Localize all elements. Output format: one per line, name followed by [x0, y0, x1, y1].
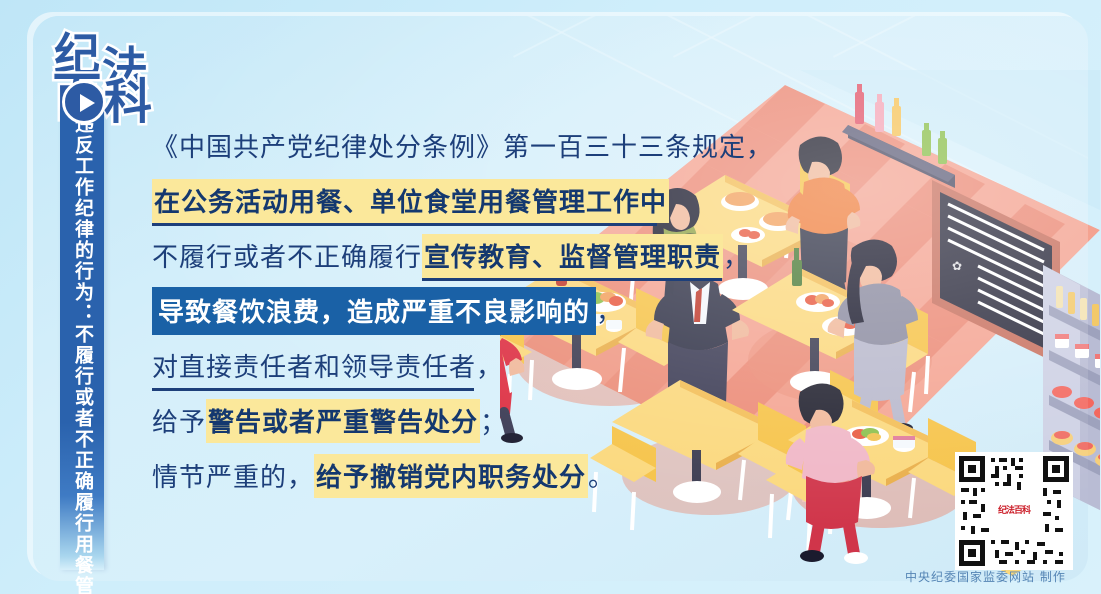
- text-segment: 对直接责任者和领导责任者，: [152, 347, 503, 384]
- vertical-title-text: 违反工作纪律的行为：不履行或者不正确履行用餐管理职责: [72, 114, 92, 594]
- highlight-blue-segment: 导致餐饮浪费，造成严重不良影响的: [152, 287, 596, 335]
- underline-rule: [152, 388, 474, 391]
- text-segment: 不履行或者不正确履行: [152, 237, 422, 274]
- credit-text: 中央纪委国家监委网站 制作: [905, 568, 1066, 585]
- text-line-4: 导致餐饮浪费，造成严重不良影响的 ，: [152, 283, 792, 338]
- text-segment: ，: [723, 237, 750, 274]
- highlight-yellow-segment: 在公务活动用餐、单位食堂用餐管理工作中: [152, 179, 669, 223]
- text-segment: 。: [588, 457, 615, 494]
- play-triangle-icon: [62, 80, 106, 124]
- text-line-6: 给予 警告或者严重警告处分 ；: [152, 393, 792, 448]
- highlight-yellow-segment: 宣传教育、监督管理职责: [422, 234, 723, 278]
- brand-logo[interactable]: 纪 法 百 科: [52, 32, 164, 128]
- text-segment: ；: [480, 402, 507, 439]
- underline-rule: [422, 278, 722, 281]
- vertical-title-banner: 违反工作纪律的行为：不履行或者不正确履行用餐管理职责: [60, 108, 104, 570]
- text-segment: ，: [596, 292, 623, 329]
- text-line-1: 《中国共产党纪律处分条例》第一百三十三条规定，: [152, 118, 792, 173]
- text-segment: 情节严重的，: [152, 457, 314, 494]
- regulation-text-block: 《中国共产党纪律处分条例》第一百三十三条规定， 在公务活动用餐、单位食堂用餐管理…: [152, 118, 792, 503]
- qr-code[interactable]: 纪法百科: [955, 452, 1073, 570]
- qr-finder-bottom-left: [959, 540, 985, 566]
- underline-rule: [152, 223, 657, 226]
- text-line-2: 在公务活动用餐、单位食堂用餐管理工作中: [152, 173, 792, 228]
- qr-code-matrix: 纪法百科: [959, 456, 1069, 566]
- text-line-7: 情节严重的， 给予撤销党内职务处分 。: [152, 448, 792, 503]
- text-segment: 《中国共产党纪律处分条例》第一百三十三条规定，: [152, 127, 773, 164]
- logo-char-ke: 科: [104, 78, 152, 126]
- poster-root: ✿: [0, 0, 1101, 594]
- qr-center-logo: 纪法百科: [995, 492, 1033, 530]
- text-line-5: 对直接责任者和领导责任者，: [152, 338, 792, 393]
- qr-finder-top-right: [1043, 456, 1069, 482]
- text-segment: 给予: [152, 402, 206, 439]
- text-line-3: 不履行或者不正确履行 宣传教育、监督管理职责 ，: [152, 228, 792, 283]
- qr-finder-top-left: [959, 456, 985, 482]
- highlight-yellow-segment: 警告或者严重警告处分: [206, 399, 480, 443]
- highlight-yellow-segment: 给予撤销党内职务处分: [314, 454, 588, 498]
